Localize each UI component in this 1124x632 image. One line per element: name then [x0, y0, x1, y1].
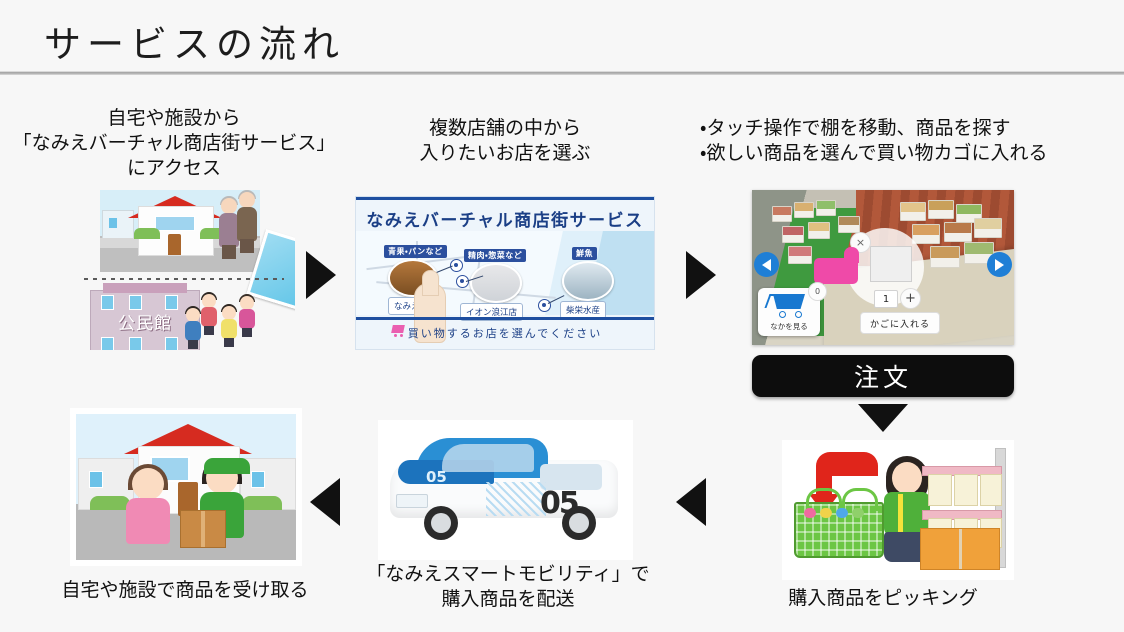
arrow-step2-to-step3	[686, 251, 716, 299]
step3-caption: ・タッチ操作で棚を移動、商品を探す ・欲しい商品を選んで買い物カゴに入れる	[700, 116, 1120, 166]
product-item[interactable]	[772, 206, 792, 222]
product-item[interactable]	[928, 200, 954, 219]
product-item[interactable]	[930, 246, 960, 268]
add-to-cart-button[interactable]: かごに入れる	[860, 312, 940, 334]
map-title: なみえバーチャル商店街サービス	[356, 206, 654, 231]
electric-van-graphic: 05 05	[390, 438, 618, 534]
arrow-step1-to-step2	[306, 251, 336, 299]
arrow-step5-to-step6	[310, 478, 340, 526]
step6-illustration	[70, 408, 302, 566]
product-item[interactable]	[944, 222, 972, 242]
arrow-step4-to-step5	[676, 478, 706, 526]
shopping-cart-icon	[767, 294, 811, 318]
parcel-box	[180, 510, 226, 548]
product-item[interactable]	[974, 218, 1002, 238]
product-item[interactable]	[816, 200, 836, 216]
shopping-basket-graphic	[794, 502, 884, 558]
product-item[interactable]	[782, 226, 804, 243]
product-item[interactable]	[838, 216, 860, 233]
person-figure	[200, 294, 218, 334]
step3-illustration: × 1 + かごに入れる なかを見る 0	[752, 190, 1014, 345]
basket-contents	[804, 508, 874, 520]
step2-illustration: なみえバーチャル商店街サービス 青果・パンなど なみえ 精肉・惣菜など イオン浪…	[355, 196, 655, 350]
view-cart-label: なかを見る	[758, 321, 820, 332]
vr-prev-arrow-icon[interactable]	[754, 252, 779, 277]
product-item[interactable]	[788, 246, 812, 264]
shop-tag-aeon: 精肉・惣菜など	[464, 249, 526, 262]
cardboard-box	[920, 528, 1000, 570]
arrow-step3-to-step4	[858, 404, 908, 432]
pointing-hand-cursor	[814, 258, 858, 284]
shop-thumbnail-aeon[interactable]	[470, 263, 522, 303]
vr-selected-product[interactable]	[870, 246, 912, 282]
cart-count-badge: 0	[808, 282, 827, 301]
hedge-icon	[134, 228, 160, 239]
delivery-cap-icon	[204, 458, 250, 474]
slide-root: サービスの流れ 自宅や施設から 「なみえバーチャル商店街サービス」 にアクセス …	[0, 0, 1124, 632]
elderly-man-figure	[236, 192, 258, 254]
map-bottom-rule	[356, 317, 654, 320]
person-figure	[238, 296, 256, 336]
step4-illustration	[782, 440, 1014, 580]
step1-caption: 自宅や施設から 「なみえバーチャル商店街サービス」 にアクセス	[0, 106, 348, 181]
step1-illustration: 公民館	[70, 190, 295, 350]
delivery-scene	[76, 414, 296, 560]
community-center-scene: 公民館	[88, 288, 288, 350]
person-figure	[184, 308, 202, 348]
person-figure	[220, 306, 238, 346]
van-hood-badge: 05	[426, 468, 447, 486]
home-scene	[100, 190, 260, 272]
step5-illustration: 05 05	[378, 420, 633, 560]
shop-tag-produce: 青果・パンなど	[384, 245, 447, 258]
product-item[interactable]	[912, 224, 940, 244]
order-button[interactable]: 注文	[752, 355, 1014, 397]
step2-caption: 複数店舗の中から 入りたいお店を選ぶ	[355, 116, 655, 166]
title-divider	[0, 71, 1124, 75]
map-pin-icon[interactable]	[538, 299, 551, 312]
map-top-rule	[356, 197, 654, 200]
map-instruction: 買い物するお店を選んでください	[356, 325, 654, 341]
vr-next-arrow-icon[interactable]	[987, 252, 1012, 277]
shop-thumbnail-fish[interactable]	[562, 261, 614, 301]
page-title: サービスの流れ	[44, 14, 345, 68]
quantity-value[interactable]: 1	[874, 290, 898, 308]
step5-caption: 「なみえスマートモビリティ」で 購入商品を配送	[360, 562, 656, 612]
increment-quantity-button[interactable]: +	[900, 288, 921, 309]
product-item[interactable]	[808, 222, 830, 239]
step6-caption: 自宅や施設で商品を受け取る	[30, 578, 340, 603]
dotted-separator	[84, 278, 284, 280]
community-center-sign: 公民館	[105, 313, 185, 335]
product-item[interactable]	[794, 202, 814, 218]
house-window	[155, 216, 195, 231]
shop-tag-fish: 鮮魚	[572, 247, 597, 260]
map-canvas: 青果・パンなど なみえ 精肉・惣菜など イオン浪江店 鮮魚 柴栄水産	[356, 231, 654, 315]
product-item[interactable]	[900, 202, 926, 221]
house-door	[168, 234, 181, 255]
step4-caption: 購入商品をピッキング	[752, 586, 1014, 611]
